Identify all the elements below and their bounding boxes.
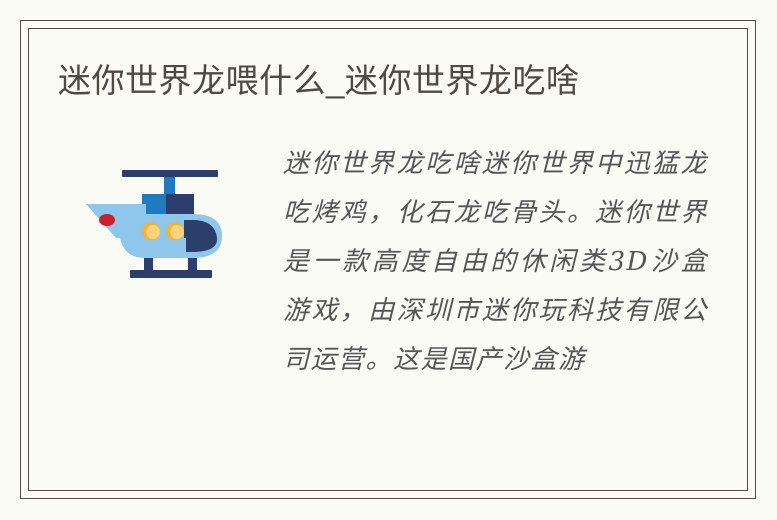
article-thumbnail: [80, 152, 250, 282]
article-card-inner-border: 迷你世界龙喂什么_迷你世界龙吃啥: [28, 28, 748, 491]
article-content: 迷你世界龙喂什么_迷你世界龙吃啥: [29, 29, 747, 490]
page-title: 迷你世界龙喂什么_迷你世界龙吃啥: [58, 57, 698, 104]
helicopter-icon: [80, 152, 250, 282]
article-body: 迷你世界龙吃啥迷你世界中迅猛龙吃烤鸡，化石龙吃骨头。迷你世界是一款高度自由的休闲…: [58, 140, 717, 411]
article-summary-text: 迷你世界龙吃啥迷你世界中迅猛龙吃烤鸡，化石龙吃骨头。迷你世界是一款高度自由的休闲…: [283, 140, 708, 385]
article-card: 迷你世界龙喂什么_迷你世界龙吃啥: [20, 20, 756, 499]
